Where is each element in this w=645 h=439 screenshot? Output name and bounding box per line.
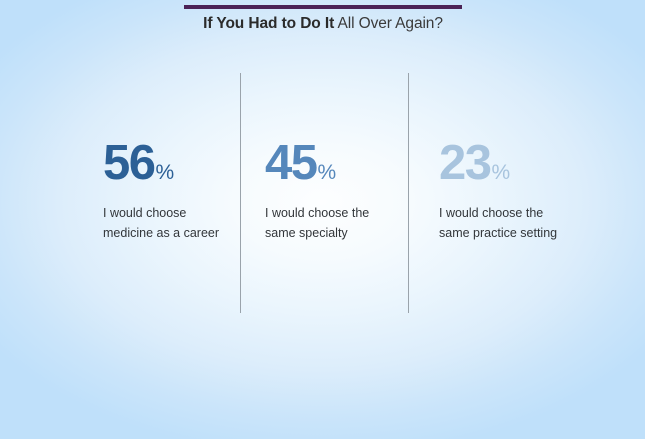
stat-value-2: 45	[265, 136, 317, 190]
stat-label-3: I would choose the same practice setting	[439, 204, 564, 243]
infographic-canvas: If You Had to Do It All Over Again? 56% …	[0, 0, 645, 439]
title-rule-divider	[184, 5, 462, 9]
stat-column-medicine-career: 56% I would choose medicine as a career	[103, 73, 253, 313]
page-title: If You Had to Do It All Over Again?	[184, 14, 462, 33]
stat-label-1: I would choose medicine as a career	[103, 204, 228, 243]
stats-row: 56% I would choose medicine as a career …	[0, 73, 645, 313]
page-title-light: All Over Again?	[334, 15, 443, 32]
percent-sign-1: %	[156, 161, 175, 184]
stat-label-2: I would choose the same specialty	[265, 204, 390, 243]
percent-sign-2: %	[318, 161, 337, 184]
stat-value-1: 56	[103, 136, 155, 190]
page-title-bold: If You Had to Do It	[203, 15, 334, 32]
stat-number-3: 23%	[439, 139, 510, 188]
stat-column-same-specialty: 45% I would choose the same specialty	[265, 73, 415, 313]
title-block: If You Had to Do It All Over Again?	[184, 5, 462, 33]
stat-number-2: 45%	[265, 139, 336, 188]
stat-column-same-practice-setting: 23% I would choose the same practice set…	[439, 73, 589, 313]
stat-value-3: 23	[439, 136, 491, 190]
stat-number-1: 56%	[103, 139, 174, 188]
percent-sign-3: %	[492, 161, 511, 184]
